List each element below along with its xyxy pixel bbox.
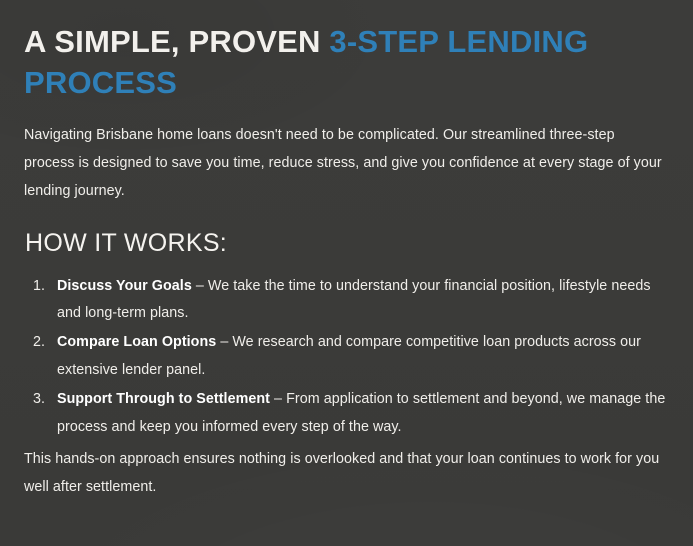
closing-paragraph: This hands-on approach ensures nothing i…: [24, 443, 669, 502]
step-dash: –: [270, 391, 286, 407]
page-title-lead: A SIMPLE, PROVEN: [24, 24, 329, 59]
page-title: A SIMPLE, PROVEN 3-STEP LENDING PROCESS: [24, 0, 669, 103]
intro-paragraph: Navigating Brisbane home loans doesn't n…: [24, 103, 669, 206]
steps-list: Discuss Your Goals – We take the time to…: [24, 260, 669, 442]
list-item: Support Through to Settlement – From app…: [24, 386, 669, 442]
step-title: Support Through to Settlement: [57, 391, 270, 407]
step-dash: –: [216, 334, 232, 350]
list-item: Discuss Your Goals – We take the time to…: [24, 273, 669, 329]
step-dash: –: [192, 278, 208, 294]
lending-process-section: A SIMPLE, PROVEN 3-STEP LENDING PROCESS …: [0, 0, 693, 546]
step-title: Discuss Your Goals: [57, 278, 192, 294]
how-it-works-heading: HOW IT WORKS:: [24, 206, 669, 260]
step-title: Compare Loan Options: [57, 334, 216, 350]
list-item: Compare Loan Options – We research and c…: [24, 329, 669, 385]
